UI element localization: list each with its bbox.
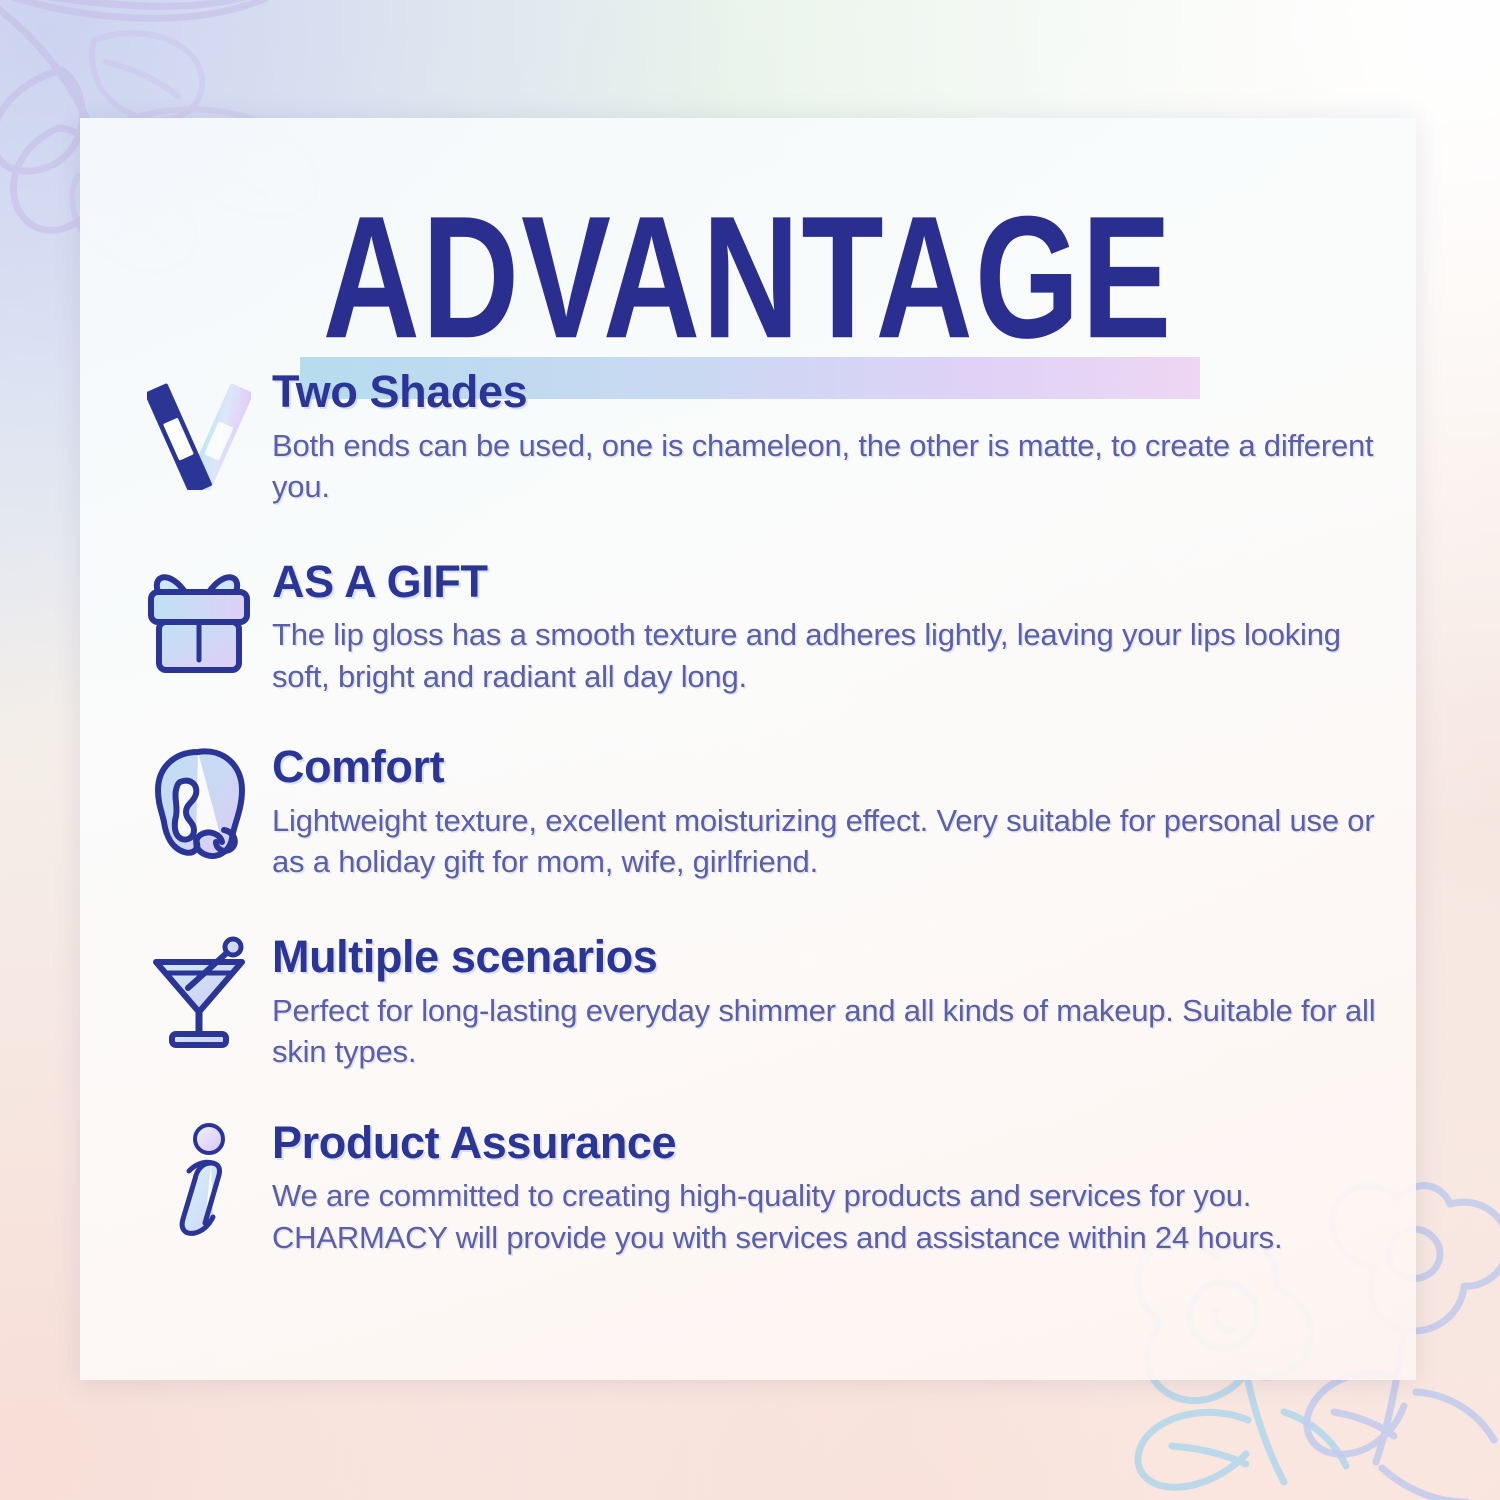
- feature-item-as-a-gift: AS A GIFT The lip gloss has a smooth tex…: [140, 556, 1386, 698]
- feature-description: Both ends can be used, one is chameleon,…: [272, 425, 1386, 508]
- content-card: ADVANTAGE: [80, 118, 1416, 1380]
- feature-text-block: Multiple scenarios Perfect for long-last…: [258, 931, 1386, 1073]
- crossed-lipsticks-icon: [140, 366, 258, 494]
- page-title: ADVANTAGE: [87, 190, 1410, 364]
- feature-item-two-shades: Two Shades Both ends can be used, one is…: [140, 366, 1386, 508]
- feature-item-product-assurance: Product Assurance We are committed to cr…: [140, 1117, 1386, 1259]
- feature-description: The lip gloss has a smooth texture and a…: [272, 614, 1386, 697]
- information-italic-i-icon: [140, 1117, 258, 1245]
- feature-text-block: AS A GIFT The lip gloss has a smooth tex…: [258, 556, 1386, 698]
- advantage-poster: ADVANTAGE: [0, 0, 1500, 1500]
- feature-description: We are committed to creating high-qualit…: [272, 1175, 1386, 1258]
- gift-box-icon: [140, 556, 258, 684]
- feature-title: Two Shades: [272, 368, 1386, 417]
- feature-description: Lightweight texture, excellent moisturiz…: [272, 800, 1386, 883]
- feature-text-block: Comfort Lightweight texture, excellent m…: [258, 741, 1386, 883]
- feature-item-comfort: Comfort Lightweight texture, excellent m…: [140, 741, 1386, 883]
- feature-title: Comfort: [272, 743, 1386, 792]
- feature-title: AS A GIFT: [272, 558, 1386, 607]
- feature-title: Multiple scenarios: [272, 933, 1386, 982]
- feature-title: Product Assurance: [272, 1119, 1386, 1168]
- woman-profile-icon: [140, 741, 258, 869]
- feature-text-block: Product Assurance We are committed to cr…: [258, 1117, 1386, 1259]
- feature-text-block: Two Shades Both ends can be used, one is…: [258, 366, 1386, 508]
- feature-list: Two Shades Both ends can be used, one is…: [140, 366, 1386, 1302]
- feature-description: Perfect for long-lasting everyday shimme…: [272, 990, 1386, 1073]
- feature-item-multiple-scenarios: Multiple scenarios Perfect for long-last…: [140, 931, 1386, 1073]
- cocktail-glass-icon: [140, 931, 258, 1059]
